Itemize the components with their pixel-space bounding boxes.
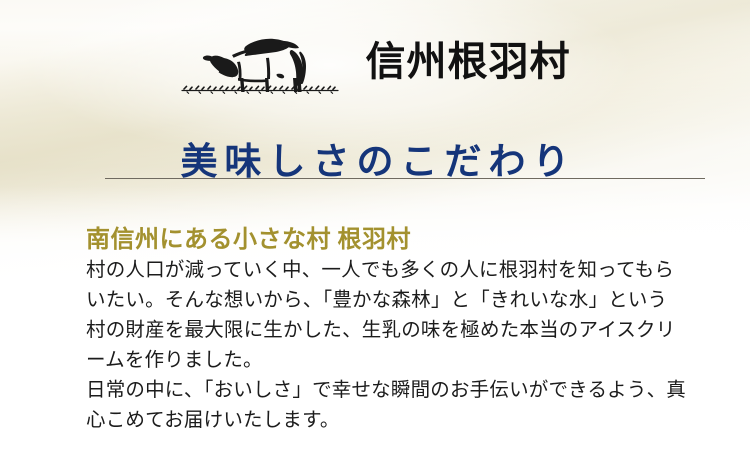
promo-page: 信州根羽村 美味しさのこだわり 南信州にある小さな村 根羽村 村の人口が減ってい… bbox=[0, 0, 750, 465]
body-paragraph-2: 日常の中に、「おいしさ」で幸せな瞬間のお手伝いができるよう、真心こめてお届けいた… bbox=[86, 376, 686, 436]
grazing-cow-icon bbox=[180, 22, 340, 94]
ground-line-icon bbox=[182, 86, 338, 93]
title-divider bbox=[105, 178, 705, 179]
body-paragraph-1: 村の人口が減っていく中、一人でも多くの人に根羽村を知ってもらいたい。そんな想いか… bbox=[86, 256, 686, 376]
section-body: 村の人口が減っていく中、一人でも多くの人に根羽村を知ってもらいたい。そんな想いか… bbox=[86, 256, 686, 436]
village-name-logotype: 信州根羽村 bbox=[366, 42, 571, 94]
section-heading: 南信州にある小さな村 根羽村 bbox=[86, 225, 411, 255]
brand-logo: 信州根羽村 bbox=[0, 16, 750, 94]
